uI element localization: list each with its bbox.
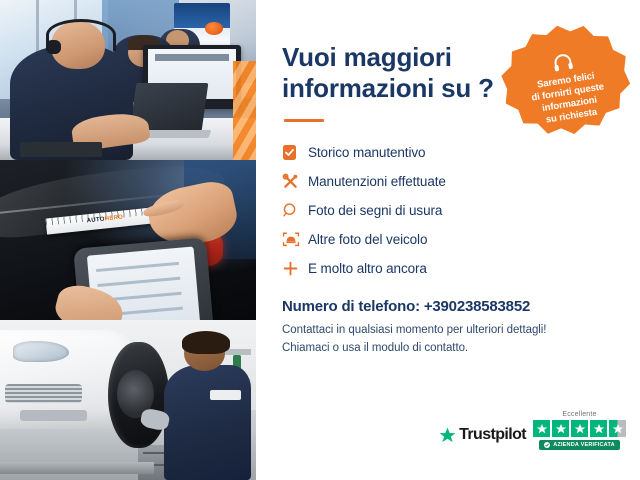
trustpilot-wordmark: Trustpilot <box>459 426 526 444</box>
uniform-logo-patch <box>210 390 241 400</box>
tablet-text-line <box>97 277 179 287</box>
trustpilot-score-block: Eccellente <box>533 411 626 450</box>
photo-strip: AUTOHERO <box>0 0 256 480</box>
phone-number-line[interactable]: Numero di telefono: +390238583852 <box>282 298 614 315</box>
trustpilot-rating[interactable]: Trustpilot Eccellente <box>439 411 626 450</box>
list-item-molto-altro-ancora: E molto altro ancora <box>282 254 614 282</box>
list-item-label: Foto dei segni di usura <box>308 203 442 218</box>
tools-icon <box>282 173 308 190</box>
checkbox-checked-icon <box>282 144 308 161</box>
poster-graphic <box>205 22 223 35</box>
star-filled-icon <box>590 420 607 437</box>
car-bumper-vent <box>20 410 87 421</box>
star-filled-icon <box>552 420 569 437</box>
call-centre-agent-photo <box>0 0 256 160</box>
car-scan-icon <box>282 231 308 248</box>
list-item-label: Storico manutentivo <box>308 145 425 160</box>
technician-wheel-check-photo <box>0 320 256 480</box>
list-item-label: Altre foto del veicolo <box>308 232 427 247</box>
list-item-label: E molto altro ancora <box>308 261 427 276</box>
keyboard <box>20 142 102 156</box>
tablet-text-line <box>96 262 178 272</box>
headset-earcup <box>46 40 61 54</box>
plus-icon <box>282 260 308 277</box>
verified-check-icon <box>544 442 550 448</box>
trustpilot-star-icon <box>439 427 456 444</box>
headline-line-2: informazioni su ? <box>282 73 494 103</box>
trustpilot-rating-label: Eccellente <box>562 411 596 418</box>
verified-label: AZIENDA VERIFICATA <box>553 442 615 448</box>
vehicle-inspection-ruler-photo: AUTOHERO <box>0 160 256 320</box>
car-headlight <box>13 341 69 362</box>
status-badge: AZIENDA VERIFICATA <box>539 440 620 450</box>
magnifier-icon <box>282 202 308 219</box>
contact-description-line-2: Chiamaci o usa il modulo di contatto. <box>282 340 614 358</box>
list-item-altre-foto-veicolo: Altre foto del veicolo <box>282 225 614 253</box>
list-item-label: Manutenzioni effettuate <box>308 174 446 189</box>
technician-torso <box>164 365 251 480</box>
status-badge-callout: Saremo felici di fornirti queste informa… <box>495 16 639 160</box>
star-half-icon <box>609 420 626 437</box>
technician-hair <box>182 331 231 353</box>
vehicle-lift-arm <box>0 462 154 473</box>
promo-banner: AUTOHERO <box>0 0 640 480</box>
content-panel: Vuoi maggiori informazioni su ? Storico … <box>256 0 640 480</box>
trustpilot-stars <box>533 420 626 437</box>
contact-description-line-1: Contattaci in qualsiasi momento per ulte… <box>282 322 614 340</box>
car-grille <box>5 384 82 403</box>
list-item-manutenzioni-effettuate: Manutenzioni effettuate <box>282 167 614 195</box>
star-filled-icon <box>533 420 550 437</box>
list-item-foto-segni-usura: Foto dei segni di usura <box>282 196 614 224</box>
feature-list: Storico manutentivo Manutenzioni effettu… <box>282 138 614 282</box>
contact-description: Contattaci in qualsiasi momento per ulte… <box>282 322 614 358</box>
title-underline-rule <box>284 119 324 122</box>
orange-barrier <box>233 61 256 160</box>
headline-line-1: Vuoi maggiori <box>282 42 452 72</box>
page-title: Vuoi maggiori informazioni su ? <box>282 42 517 103</box>
star-filled-icon <box>571 420 588 437</box>
car-wheel <box>108 342 169 448</box>
trustpilot-logo: Trustpilot <box>439 426 526 450</box>
